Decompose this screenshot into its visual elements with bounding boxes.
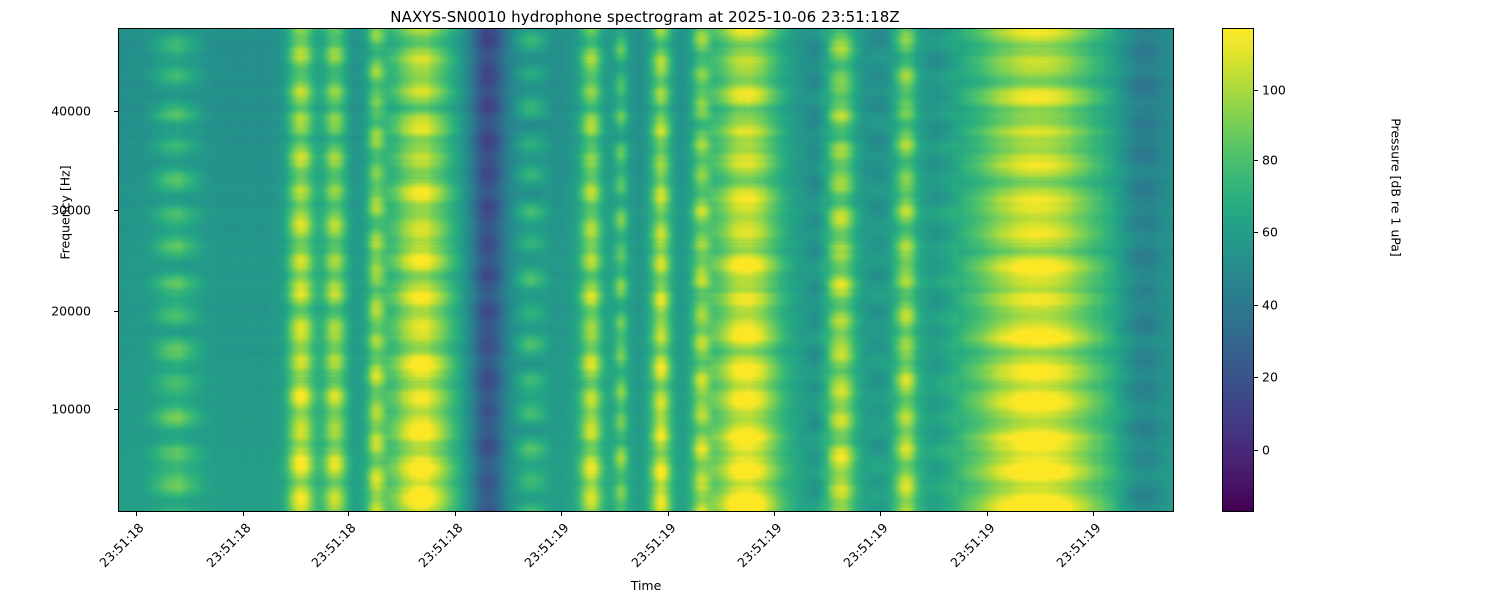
x-tick-label: 23:51:18 <box>89 520 146 577</box>
x-tick-label: 23:51:18 <box>408 520 465 577</box>
colorbar-tick-mark <box>1254 450 1258 451</box>
x-tick-mark <box>243 512 244 516</box>
x-tick-mark <box>668 512 669 516</box>
colorbar-tick-mark <box>1254 305 1258 306</box>
colorbar-tick-label: 0 <box>1262 443 1270 458</box>
colorbar-tick-label: 60 <box>1262 225 1278 240</box>
colorbar-tick-label: 20 <box>1262 370 1278 385</box>
colorbar-gradient <box>1223 29 1253 511</box>
x-tick-label: 23:51:19 <box>1046 520 1103 577</box>
colorbar-label: Pressure [dB re 1 uPa] <box>1389 98 1404 278</box>
y-tick-label: 20000 <box>51 304 91 319</box>
colorbar-tick-mark <box>1254 160 1258 161</box>
x-tick-label: 23:51:19 <box>621 520 678 577</box>
y-tick-label: 40000 <box>51 104 91 119</box>
x-tick-label: 23:51:18 <box>301 520 358 577</box>
x-tick-mark <box>1093 512 1094 516</box>
colorbar-tick-mark <box>1254 232 1258 233</box>
x-axis-label: Time <box>118 578 1174 593</box>
x-tick-label: 23:51:19 <box>940 520 997 577</box>
x-tick-mark <box>455 512 456 516</box>
x-tick-mark <box>880 512 881 516</box>
colorbar-tick-mark <box>1254 90 1258 91</box>
figure-title: NAXYS-SN0010 hydrophone spectrogram at 2… <box>0 8 1290 26</box>
spectrogram-image <box>119 29 1173 511</box>
figure-root: NAXYS-SN0010 hydrophone spectrogram at 2… <box>0 0 1500 600</box>
x-tick-mark <box>561 512 562 516</box>
colorbar-tick-label: 40 <box>1262 298 1278 313</box>
x-tick-mark <box>987 512 988 516</box>
y-tick-label: 10000 <box>51 402 91 417</box>
x-tick-mark <box>136 512 137 516</box>
x-tick-label: 23:51:18 <box>196 520 253 577</box>
colorbar[interactable] <box>1222 28 1254 512</box>
x-tick-label: 23:51:19 <box>833 520 890 577</box>
y-tick-label: 30000 <box>51 203 91 218</box>
x-tick-label: 23:51:19 <box>727 520 784 577</box>
colorbar-tick-label: 100 <box>1262 83 1286 98</box>
x-tick-mark <box>774 512 775 516</box>
colorbar-tick-mark <box>1254 377 1258 378</box>
x-tick-label: 23:51:19 <box>514 520 571 577</box>
colorbar-tick-label: 80 <box>1262 153 1278 168</box>
spectrogram-plot-area[interactable] <box>118 28 1174 512</box>
x-tick-mark <box>348 512 349 516</box>
